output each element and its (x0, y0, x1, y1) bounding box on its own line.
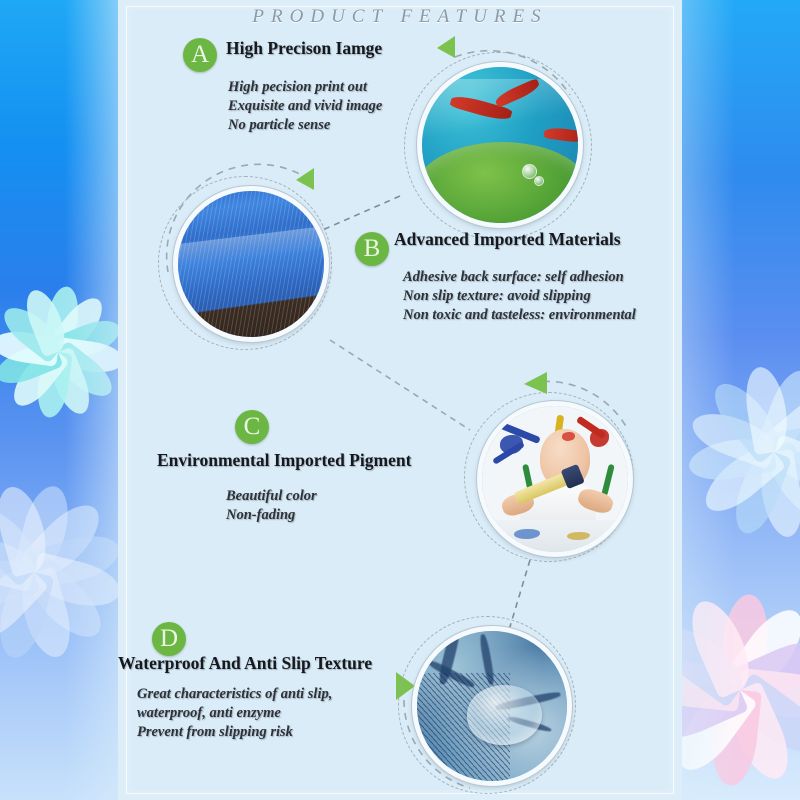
feature-bullets-b: Adhesive back surface: self adhesion Non… (403, 268, 636, 325)
right-border-veil (682, 0, 800, 800)
feature-badge-a: A (183, 38, 217, 72)
product-features-poster: PRODUCT FEATURES (0, 0, 800, 800)
koi-pond-print-photo (417, 62, 583, 228)
feature-b-bullet-2: Non slip texture: avoid slipping (403, 287, 636, 306)
feature-bullets-c: Beautiful color Non-fading (226, 487, 317, 525)
feature-badge-d: D (152, 622, 186, 656)
feature-d-bullet-2: waterproof, anti enzyme (137, 704, 332, 723)
feature-d-bullet-3: Prevent from slipping risk (137, 723, 332, 742)
feature-heading-c: Environmental Imported Pigment (157, 450, 411, 471)
feature-badge-b: B (355, 232, 389, 266)
right-decorative-border (682, 0, 800, 800)
feature-heading-d: Waterproof And Anti Slip Texture (118, 653, 372, 674)
feature-heading-a: High Precison Iamge (226, 38, 382, 59)
waterproof-droplet-photo (412, 626, 572, 786)
left-decorative-border (0, 0, 118, 800)
feature-a-bullet-3: No particle sense (228, 116, 382, 135)
feature-heading-b: Advanced Imported Materials (394, 229, 621, 250)
baby-painting-photo (477, 401, 633, 557)
feature-bullets-a: High pecision print out Exquisite and vi… (228, 78, 382, 135)
left-border-veil (0, 0, 118, 800)
feature-d-bullet-1: Great characteristics of anti slip, (137, 685, 332, 704)
feature-a-bullet-2: Exquisite and vivid image (228, 97, 382, 116)
feature-b-bullet-3: Non toxic and tasteless: environmental (403, 306, 636, 325)
blue-fabric-material-photo (173, 186, 329, 342)
page-title: PRODUCT FEATURES (131, 6, 669, 28)
feature-c-bullet-2: Non-fading (226, 506, 317, 525)
feature-a-bullet-1: High pecision print out (228, 78, 382, 97)
feature-b-bullet-1: Adhesive back surface: self adhesion (403, 268, 636, 287)
feature-c-bullet-1: Beautiful color (226, 487, 317, 506)
feature-bullets-d: Great characteristics of anti slip, wate… (137, 685, 332, 742)
feature-badge-c: C (235, 410, 269, 444)
